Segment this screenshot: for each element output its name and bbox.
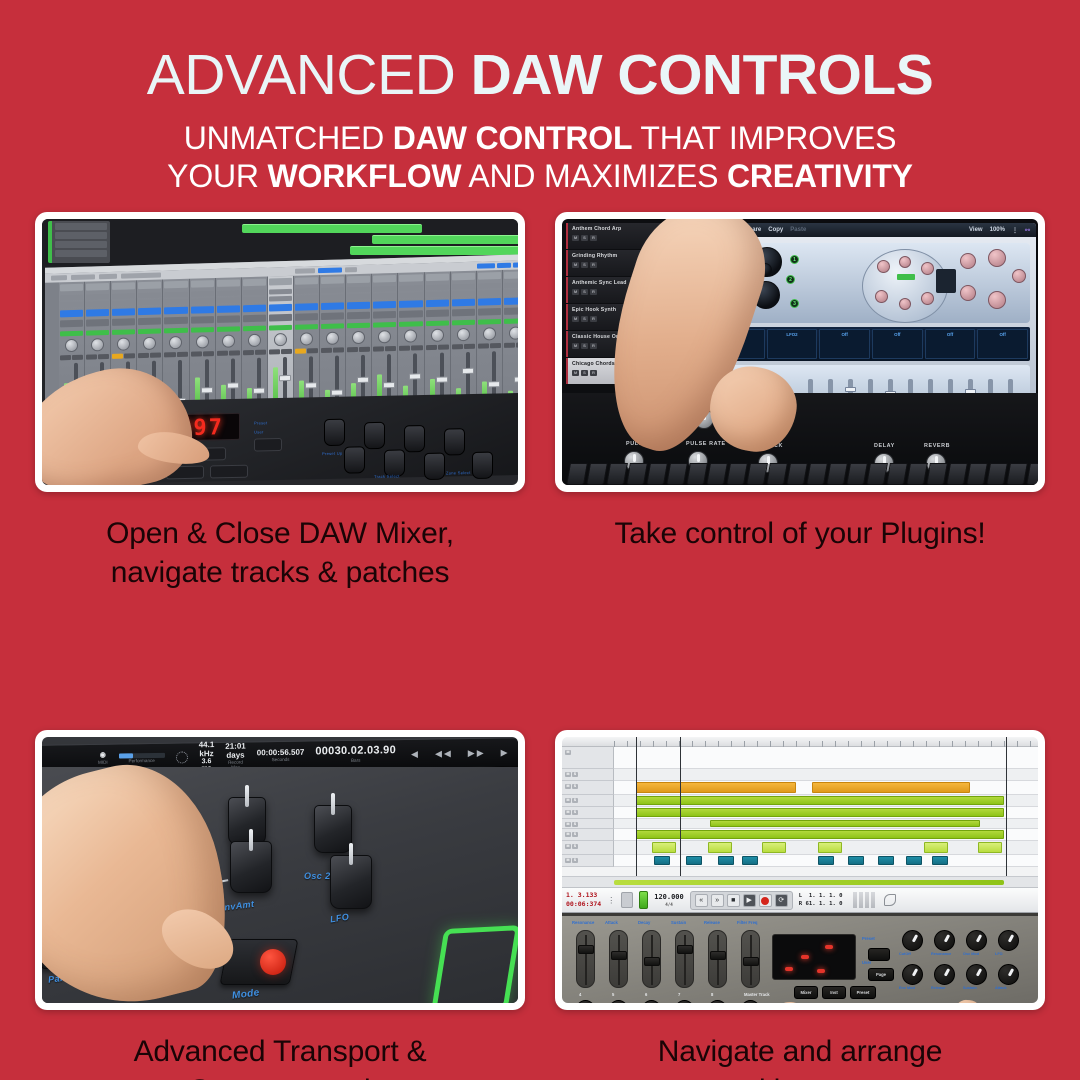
insert-slot[interactable] bbox=[295, 288, 318, 294]
automation-mode[interactable] bbox=[191, 327, 214, 333]
arrange-lane[interactable] bbox=[614, 769, 1038, 781]
track-button-s[interactable]: S bbox=[581, 343, 588, 349]
channel-output[interactable] bbox=[243, 315, 266, 323]
insert-slot[interactable] bbox=[269, 289, 292, 295]
caption-line: navigate tracks & patches bbox=[20, 553, 540, 592]
insert-slot[interactable] bbox=[321, 294, 344, 300]
track-button-m[interactable]: M bbox=[572, 316, 579, 322]
arrange-region[interactable] bbox=[636, 830, 1004, 839]
arrange-region[interactable] bbox=[710, 820, 980, 827]
control-knob[interactable] bbox=[902, 930, 923, 951]
playhead[interactable] bbox=[636, 737, 637, 887]
matrix-cell[interactable]: Off bbox=[872, 329, 923, 359]
channel-bus[interactable] bbox=[269, 304, 292, 312]
track-button-s[interactable]: S bbox=[581, 370, 588, 376]
track-button-r[interactable]: R bbox=[590, 262, 597, 268]
control-knob[interactable] bbox=[998, 964, 1019, 985]
osc2-knob[interactable] bbox=[228, 797, 266, 845]
insert-slot[interactable] bbox=[86, 301, 109, 307]
insert-slot[interactable] bbox=[191, 298, 214, 304]
transport-rewind-icon[interactable]: ◀◀ bbox=[435, 748, 453, 759]
arrange-region[interactable] bbox=[812, 782, 970, 793]
mute-solo-buttons[interactable] bbox=[295, 348, 318, 354]
filter-knob[interactable] bbox=[988, 291, 1006, 309]
matrix-cell[interactable]: Off bbox=[819, 329, 870, 359]
channel-fader[interactable] bbox=[642, 930, 661, 988]
channel-fader[interactable] bbox=[708, 930, 727, 988]
arrange-lane[interactable] bbox=[614, 781, 1038, 795]
mute-button[interactable]: M bbox=[565, 832, 571, 837]
record-max-value: 21:01 days bbox=[225, 743, 245, 760]
arrange-lane[interactable] bbox=[614, 855, 1038, 867]
channel-bus[interactable] bbox=[191, 306, 214, 314]
envamt-knob[interactable] bbox=[230, 841, 272, 893]
arrange-region[interactable] bbox=[654, 856, 670, 865]
arrange-lane[interactable] bbox=[614, 819, 1038, 829]
channel-output[interactable] bbox=[86, 319, 109, 327]
control-knob[interactable] bbox=[934, 930, 955, 951]
arrange-region[interactable] bbox=[636, 808, 1004, 817]
channel-bus[interactable] bbox=[399, 300, 422, 308]
channel-bus[interactable] bbox=[347, 302, 370, 310]
track-button-r[interactable]: R bbox=[590, 316, 597, 322]
mute-solo-buttons[interactable] bbox=[243, 350, 266, 356]
arrange-region[interactable] bbox=[932, 856, 948, 865]
automation-mode[interactable] bbox=[164, 328, 187, 334]
pan-knob[interactable] bbox=[91, 338, 104, 351]
fader-label: 6 bbox=[645, 992, 647, 997]
transport-bar[interactable]: 1. 3.133 00:06:374 ⋮ 120.000 4/4 « » ■ ▶ bbox=[562, 887, 1038, 913]
mute-solo-buttons[interactable] bbox=[478, 343, 501, 349]
global-track[interactable] bbox=[562, 876, 1038, 887]
pan-knob[interactable] bbox=[352, 331, 365, 344]
pan-knob[interactable] bbox=[404, 329, 417, 342]
device-button[interactable] bbox=[254, 438, 282, 452]
channel-bus[interactable] bbox=[452, 299, 475, 307]
insert-slot[interactable] bbox=[347, 294, 370, 300]
track-button-r[interactable]: R bbox=[590, 235, 597, 241]
record-button[interactable] bbox=[260, 949, 286, 975]
pan-knob[interactable] bbox=[248, 334, 261, 347]
position-menu-icon[interactable]: ⋮ bbox=[607, 896, 615, 905]
insert-slot[interactable] bbox=[191, 291, 214, 297]
channel-fader[interactable] bbox=[675, 930, 694, 988]
pan-knob[interactable] bbox=[483, 327, 496, 340]
insert-slot[interactable] bbox=[164, 299, 187, 305]
channel-bus[interactable] bbox=[295, 303, 318, 311]
mute-button[interactable]: M bbox=[565, 822, 571, 827]
playhead-secondary[interactable] bbox=[680, 737, 681, 887]
insert-slot[interactable] bbox=[478, 283, 501, 289]
track-header[interactable]: MS bbox=[562, 795, 614, 807]
mixer-mode-button[interactable]: Mixer bbox=[794, 986, 818, 999]
arrange-region[interactable] bbox=[878, 856, 894, 865]
channel-output[interactable] bbox=[269, 314, 292, 322]
arrange-region[interactable] bbox=[742, 856, 758, 865]
channel-output[interactable] bbox=[504, 307, 518, 315]
keyboard-keys[interactable] bbox=[562, 459, 1038, 485]
automation-mode[interactable] bbox=[478, 319, 501, 325]
mute-solo-buttons[interactable] bbox=[86, 354, 109, 360]
arrange-region[interactable] bbox=[978, 842, 1002, 853]
track-button-m[interactable]: M bbox=[572, 289, 579, 295]
pan-knob[interactable] bbox=[222, 334, 235, 347]
channel-output[interactable] bbox=[191, 316, 214, 324]
automation-mode[interactable] bbox=[269, 325, 292, 331]
track-button-m[interactable]: M bbox=[572, 235, 579, 241]
record-button[interactable] bbox=[759, 894, 772, 907]
track-button-s[interactable]: S bbox=[581, 289, 588, 295]
insert-slot[interactable] bbox=[504, 289, 518, 295]
channel-bus[interactable] bbox=[112, 308, 135, 316]
arrange-region[interactable] bbox=[686, 856, 702, 865]
inst-mode-button[interactable]: Inst bbox=[822, 986, 846, 999]
subtitle-emphasis: DAW CONTROL bbox=[393, 120, 633, 156]
pan-knob[interactable] bbox=[169, 336, 182, 349]
arrange-region[interactable] bbox=[718, 856, 734, 865]
device-knob[interactable] bbox=[324, 419, 345, 446]
insert-slot[interactable] bbox=[399, 292, 422, 298]
channel-bus[interactable] bbox=[373, 301, 396, 309]
osc-number-1[interactable]: 1 bbox=[790, 255, 799, 264]
mute-solo-buttons[interactable] bbox=[426, 344, 449, 350]
insert-slot[interactable] bbox=[426, 291, 449, 297]
fader-knob[interactable] bbox=[576, 1000, 595, 1003]
pan-knob[interactable] bbox=[326, 332, 339, 345]
mod-knob[interactable] bbox=[921, 292, 934, 305]
arrange-region[interactable] bbox=[924, 842, 948, 853]
mute-solo-buttons[interactable] bbox=[452, 344, 475, 350]
arrange-region[interactable] bbox=[636, 782, 796, 793]
solo-button[interactable]: S bbox=[572, 858, 578, 863]
insert-slot[interactable] bbox=[164, 292, 187, 298]
automation-mode[interactable] bbox=[504, 318, 518, 324]
mute-solo-buttons[interactable] bbox=[217, 350, 240, 356]
arrange-lane[interactable] bbox=[614, 829, 1038, 841]
pan-knob[interactable] bbox=[378, 330, 391, 343]
arrange-lane[interactable] bbox=[614, 795, 1038, 807]
automation-mode[interactable] bbox=[321, 323, 344, 329]
insert-slot[interactable] bbox=[217, 297, 240, 303]
timeline-ruler[interactable] bbox=[562, 737, 1038, 747]
transport-forward-icon[interactable]: ▶▶ bbox=[468, 747, 486, 758]
channel-bus[interactable] bbox=[478, 298, 501, 306]
insert-slot[interactable] bbox=[452, 284, 475, 290]
mute-solo-buttons[interactable] bbox=[60, 355, 83, 361]
stop-button[interactable]: ■ bbox=[727, 894, 740, 907]
channel-fader[interactable] bbox=[741, 930, 760, 988]
control-knob[interactable] bbox=[934, 964, 955, 985]
channel-output[interactable] bbox=[295, 313, 318, 321]
track-button-r[interactable]: R bbox=[590, 343, 597, 349]
cycle-button[interactable]: ⟳ bbox=[775, 894, 788, 907]
track-button-s[interactable]: S bbox=[581, 316, 588, 322]
device-button[interactable] bbox=[210, 465, 248, 479]
track-header[interactable]: MS bbox=[562, 781, 614, 795]
track-header[interactable]: MS bbox=[562, 769, 614, 781]
arrange-lane[interactable] bbox=[614, 807, 1038, 819]
track-button-m[interactable]: M bbox=[572, 370, 579, 376]
insert-slot[interactable] bbox=[112, 293, 135, 299]
zoom-level[interactable]: 100% bbox=[990, 227, 1005, 233]
pan-knob[interactable] bbox=[431, 329, 444, 342]
arrange-lane[interactable] bbox=[614, 747, 1038, 769]
link-icon[interactable]: ⚯ bbox=[1025, 227, 1030, 234]
track-button-m[interactable]: M bbox=[572, 262, 579, 268]
play-button[interactable]: ▶ bbox=[743, 894, 756, 907]
osc-number-3[interactable]: 3 bbox=[790, 299, 799, 308]
cycle-end-marker[interactable] bbox=[1006, 737, 1007, 887]
automation-mode[interactable] bbox=[347, 323, 370, 329]
channel-output[interactable] bbox=[112, 318, 135, 326]
mute-solo-buttons[interactable] bbox=[269, 349, 292, 355]
transport-buttons[interactable]: « » ■ ▶ ⟳ bbox=[690, 891, 793, 910]
filter-knob[interactable] bbox=[960, 253, 976, 269]
insert-slot[interactable] bbox=[112, 300, 135, 306]
automation-mode[interactable] bbox=[373, 322, 396, 328]
matrix-cell[interactable]: LFO2 bbox=[767, 329, 818, 359]
automation-mode[interactable] bbox=[138, 329, 161, 335]
insert-slot[interactable] bbox=[138, 300, 161, 306]
forward-button[interactable]: » bbox=[711, 894, 724, 907]
metronome-icon[interactable] bbox=[621, 892, 633, 908]
solo-button[interactable]: S bbox=[572, 772, 578, 777]
mute-button[interactable]: M bbox=[565, 858, 571, 863]
channel-fader[interactable] bbox=[576, 930, 595, 988]
track-button-r[interactable]: R bbox=[590, 289, 597, 295]
track-header[interactable]: MS bbox=[562, 829, 614, 841]
insert-slot[interactable] bbox=[269, 296, 292, 302]
track-header[interactable]: MS bbox=[562, 807, 614, 819]
mute-solo-buttons[interactable] bbox=[373, 346, 396, 352]
tempo-display[interactable]: 120.000 4/4 bbox=[654, 893, 684, 906]
insert-slot[interactable] bbox=[504, 282, 518, 288]
illuminated-pad[interactable] bbox=[431, 925, 518, 1003]
solo-button[interactable]: S bbox=[572, 810, 578, 815]
channel-output[interactable] bbox=[478, 308, 501, 316]
arrange-region[interactable] bbox=[636, 796, 1004, 805]
insert-slot[interactable] bbox=[217, 290, 240, 296]
headline-bold: DAW CONTROLS bbox=[471, 43, 934, 107]
arrange-region[interactable] bbox=[818, 856, 834, 865]
channel-output[interactable] bbox=[217, 315, 240, 323]
matrix-cell[interactable]: Off bbox=[977, 329, 1028, 359]
solo-button[interactable]: S bbox=[572, 798, 578, 803]
insert-slot[interactable] bbox=[60, 302, 83, 308]
mute-button[interactable]: M bbox=[565, 772, 571, 777]
pan-knob[interactable] bbox=[274, 333, 287, 346]
mute-solo-buttons[interactable] bbox=[347, 347, 370, 353]
caption-daw-mixer: Open & Close DAW Mixer, navigate tracks … bbox=[20, 514, 540, 592]
insert-slot[interactable] bbox=[373, 286, 396, 292]
insert-slot[interactable] bbox=[243, 297, 266, 303]
lfo-knob[interactable] bbox=[330, 855, 372, 909]
insert-slot[interactable] bbox=[138, 293, 161, 299]
mod-knob[interactable] bbox=[877, 260, 890, 273]
control-knob[interactable] bbox=[998, 930, 1019, 951]
automation-mode[interactable] bbox=[217, 326, 240, 332]
track-button-s[interactable]: S bbox=[581, 262, 588, 268]
channel-output[interactable] bbox=[373, 311, 396, 319]
mod-knob[interactable] bbox=[921, 262, 934, 275]
pan-knob[interactable] bbox=[65, 339, 78, 352]
solo-button[interactable]: S bbox=[572, 844, 578, 849]
channel-fader[interactable] bbox=[609, 930, 628, 988]
mute-button[interactable]: M bbox=[565, 750, 571, 755]
mute-button[interactable]: M bbox=[565, 844, 571, 849]
automation-mode[interactable] bbox=[60, 331, 83, 337]
solo-button[interactable]: S bbox=[572, 784, 578, 789]
track-button-m[interactable]: M bbox=[572, 343, 579, 349]
control-knob[interactable] bbox=[966, 930, 987, 951]
arrange-lane[interactable] bbox=[614, 841, 1038, 855]
mute-solo-buttons[interactable] bbox=[138, 353, 161, 359]
paste-button[interactable]: Paste bbox=[790, 227, 806, 233]
insert-slot[interactable] bbox=[347, 287, 370, 293]
device-knob[interactable] bbox=[404, 425, 425, 452]
modulation-matrix[interactable]: LFO1LFO2OffOffOffOff bbox=[712, 327, 1030, 361]
channel-output[interactable] bbox=[347, 312, 370, 320]
insert-slot[interactable] bbox=[60, 295, 83, 301]
mute-button[interactable]: M bbox=[565, 798, 571, 803]
device-knob[interactable] bbox=[424, 453, 445, 480]
automation-mode[interactable] bbox=[452, 320, 475, 326]
mute-solo-buttons[interactable] bbox=[399, 345, 422, 351]
track-header[interactable]: MS bbox=[562, 841, 614, 855]
mute-solo-buttons[interactable] bbox=[321, 347, 344, 353]
insert-slot[interactable] bbox=[399, 285, 422, 291]
transport-next-icon[interactable]: ▶ bbox=[501, 747, 510, 758]
screenshot-daw-mixer: 097 Preset User Preset Up bbox=[42, 219, 518, 485]
insert-slot[interactable] bbox=[452, 291, 475, 297]
control-knob[interactable] bbox=[966, 964, 987, 985]
arrange-region[interactable] bbox=[818, 842, 842, 853]
channel-output[interactable] bbox=[426, 309, 449, 317]
device-knob[interactable] bbox=[364, 422, 385, 449]
menu-icon[interactable]: ⋮ bbox=[1012, 227, 1018, 234]
page-button[interactable]: Page bbox=[868, 968, 894, 981]
pan-knob[interactable] bbox=[509, 326, 518, 339]
solo-button[interactable]: S bbox=[572, 822, 578, 827]
device-knob[interactable] bbox=[472, 452, 493, 479]
insert-slot[interactable] bbox=[243, 290, 266, 296]
arrange-region[interactable] bbox=[762, 842, 786, 853]
position-display[interactable]: 1. 3.133 00:06:374 bbox=[566, 891, 601, 909]
track-header[interactable]: MS bbox=[562, 819, 614, 829]
insert-slot[interactable] bbox=[373, 293, 396, 299]
fader-label: 5 bbox=[612, 992, 614, 997]
filter-knob[interactable] bbox=[1012, 269, 1026, 283]
insert-slot[interactable] bbox=[478, 290, 501, 296]
arrange-region[interactable] bbox=[652, 842, 676, 853]
load-spinner-icon bbox=[176, 751, 188, 763]
device-knob[interactable] bbox=[444, 428, 465, 455]
mute-button[interactable]: M bbox=[565, 784, 571, 789]
fader-knob[interactable] bbox=[708, 1000, 727, 1003]
control-knob[interactable] bbox=[902, 964, 923, 985]
track-button-r[interactable]: R bbox=[590, 370, 597, 376]
arrange-region[interactable] bbox=[708, 842, 732, 853]
matrix-cell[interactable]: Off bbox=[925, 329, 976, 359]
track-header[interactable]: MS bbox=[562, 855, 614, 867]
pan-knob[interactable] bbox=[117, 337, 130, 350]
channel-output[interactable] bbox=[399, 310, 422, 318]
channel-bus[interactable] bbox=[60, 310, 83, 318]
midi-indicator: ◉ MIDI bbox=[98, 752, 108, 765]
channel-bus[interactable] bbox=[504, 297, 518, 305]
pan-knob[interactable] bbox=[196, 335, 209, 348]
mute-button[interactable]: M bbox=[565, 810, 571, 815]
channel-output[interactable] bbox=[321, 312, 344, 320]
controller-hardware[interactable]: Resonance4Attack5Decay6Sustain7Release8F… bbox=[562, 913, 1038, 1003]
automation-mode[interactable] bbox=[112, 329, 135, 335]
device-knob[interactable] bbox=[344, 446, 365, 473]
arrange-region[interactable] bbox=[906, 856, 922, 865]
channel-output[interactable] bbox=[138, 318, 161, 326]
channel-bus[interactable] bbox=[321, 302, 344, 310]
mute-solo-buttons[interactable] bbox=[504, 342, 518, 348]
insert-slot[interactable] bbox=[295, 295, 318, 301]
source-label-preset: Preset bbox=[862, 936, 875, 941]
channel-bus[interactable] bbox=[138, 308, 161, 316]
pan-knob[interactable] bbox=[457, 328, 470, 341]
solo-button[interactable]: S bbox=[572, 832, 578, 837]
fader-knob[interactable] bbox=[675, 1000, 694, 1003]
automation-mode[interactable] bbox=[243, 326, 266, 332]
arrange-region[interactable] bbox=[848, 856, 864, 865]
automation-mode[interactable] bbox=[426, 320, 449, 326]
osc-number-2[interactable]: 2 bbox=[786, 275, 795, 284]
fader-knob[interactable] bbox=[609, 1000, 628, 1003]
filter-knob[interactable] bbox=[988, 249, 1006, 267]
locator-display[interactable]: L 1. 1. 1. 0 R 61. 1. 1. 0 bbox=[799, 892, 843, 909]
track-button-s[interactable]: S bbox=[581, 235, 588, 241]
track-header[interactable]: M bbox=[562, 747, 614, 769]
insert-slot[interactable] bbox=[86, 294, 109, 300]
fader-knob[interactable] bbox=[642, 1000, 661, 1003]
channel-bus[interactable] bbox=[426, 299, 449, 307]
channel-output[interactable] bbox=[164, 317, 187, 325]
mod-knob[interactable] bbox=[899, 256, 911, 268]
insert-slot[interactable] bbox=[321, 287, 344, 293]
pan-knob[interactable] bbox=[300, 332, 313, 345]
mute-solo-buttons[interactable] bbox=[112, 353, 135, 359]
channel-bus[interactable] bbox=[164, 307, 187, 315]
automation-mode[interactable] bbox=[399, 321, 422, 327]
mod-knob[interactable] bbox=[899, 298, 911, 310]
preset-mode-button[interactable]: Preset bbox=[850, 986, 876, 999]
automation-mode[interactable] bbox=[86, 330, 109, 336]
fader-knob[interactable] bbox=[741, 1000, 760, 1003]
channel-bus[interactable] bbox=[86, 309, 109, 317]
pan-knob[interactable] bbox=[143, 337, 156, 350]
insert-slot[interactable] bbox=[426, 284, 449, 290]
copy-button[interactable]: Copy bbox=[768, 227, 783, 233]
rewind-button[interactable]: « bbox=[695, 894, 708, 907]
transport-prev-icon[interactable]: ◀ bbox=[411, 748, 420, 759]
channel-bus[interactable] bbox=[217, 305, 240, 313]
mute-solo-buttons[interactable] bbox=[191, 351, 214, 357]
mute-solo-buttons[interactable] bbox=[164, 352, 187, 358]
osc-knob[interactable] bbox=[314, 805, 352, 853]
view-label[interactable]: View bbox=[969, 227, 983, 233]
channel-output[interactable] bbox=[60, 320, 83, 328]
automation-mode[interactable] bbox=[295, 324, 318, 330]
channel-output[interactable] bbox=[452, 309, 475, 317]
filter-knob[interactable] bbox=[960, 285, 976, 301]
channel-bus[interactable] bbox=[243, 305, 266, 313]
mod-knob[interactable] bbox=[875, 290, 888, 303]
